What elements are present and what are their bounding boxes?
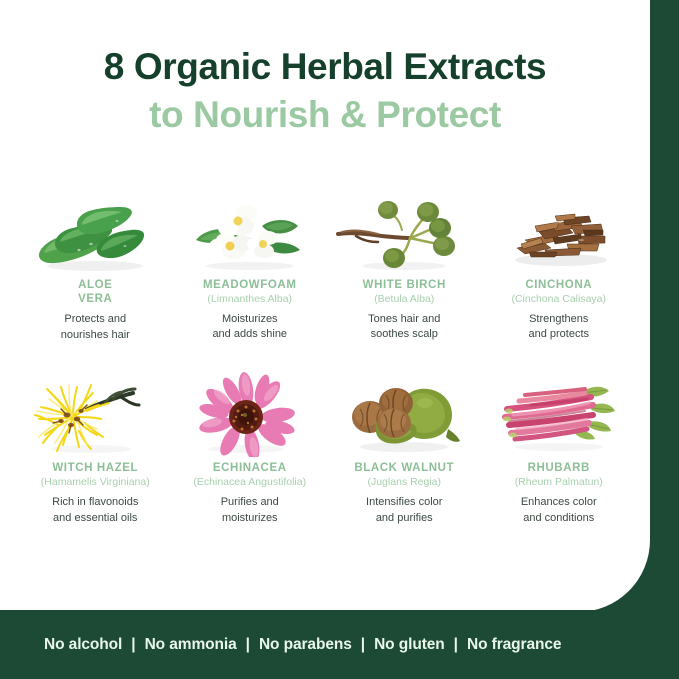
witch-hazel-yellow-flower-photo	[21, 371, 169, 457]
claim-no-fragrance: No fragrance	[467, 636, 561, 654]
extract-name: WHITE BIRCH	[363, 278, 446, 292]
extract-card-black-walnut: BLACK WALNUT (Juglans Regia) Intensifies…	[327, 371, 482, 526]
extract-description: Moisturizes and adds shine	[212, 312, 287, 343]
headline-line-2: to Nourish & Protect	[0, 92, 650, 137]
extracts-grid: ALOE VERA Protects and nourishes hair	[18, 188, 636, 526]
extract-card-cinchona: CINCHONA (Cinchona Calisaya) Strengthens…	[482, 188, 637, 343]
extract-description: Purifies and moisturizes	[221, 495, 279, 526]
claim-no-ammonia: No ammonia	[145, 636, 237, 654]
aloe-vera-leaves-photo	[21, 188, 169, 274]
meadowfoam-white-flowers-photo	[176, 188, 324, 274]
extract-name: RHUBARB	[528, 461, 590, 475]
headline-line-1: 8 Organic Herbal Extracts	[0, 44, 650, 89]
extract-card-aloe-vera: ALOE VERA Protects and nourishes hair	[18, 188, 173, 343]
extract-card-white-birch: WHITE BIRCH (Betula Alba) Tones hair and…	[327, 188, 482, 343]
extract-latin-name: (Betula Alba)	[374, 293, 434, 307]
claim-separator: |	[237, 636, 259, 654]
extract-description: Rich in flavonoids and essential oils	[52, 495, 138, 526]
content-card: 8 Organic Herbal Extracts to Nourish & P…	[0, 0, 650, 612]
extract-name: ALOE VERA	[78, 278, 112, 306]
extract-latin-name: (Cinchona Calisaya)	[511, 293, 606, 307]
black-walnut-nuts-husk-photo	[330, 371, 478, 457]
extract-latin-name: (Echinacea Angustifolia)	[193, 476, 306, 490]
extract-card-rhubarb: RHUBARB (Rheum Palmatun) Enhances color …	[482, 371, 637, 526]
extract-name: CINCHONA	[525, 278, 592, 292]
extract-latin-name: (Hamamelis Virginiana)	[41, 476, 150, 490]
rhubarb-pink-stalks-photo	[485, 371, 633, 457]
extract-card-meadowfoam: MEADOWFOAM (Limnanthes Alba) Moisturizes…	[173, 188, 328, 343]
page-title: 8 Organic Herbal Extracts to Nourish & P…	[0, 44, 650, 137]
claim-no-alcohol: No alcohol	[44, 636, 122, 654]
extract-card-witch-hazel: WITCH HAZEL (Hamamelis Virginiana) Rich …	[18, 371, 173, 526]
extract-name: BLACK WALNUT	[354, 461, 454, 475]
claim-no-gluten: No gluten	[374, 636, 445, 654]
claims-banner: No alcohol | No ammonia | No parabens | …	[0, 610, 679, 679]
claim-separator: |	[352, 636, 374, 654]
claims-list: No alcohol | No ammonia | No parabens | …	[44, 636, 561, 654]
claim-no-parabens: No parabens	[259, 636, 352, 654]
claim-separator: |	[445, 636, 467, 654]
claim-separator: |	[122, 636, 144, 654]
extract-latin-name: (Juglans Regia)	[367, 476, 441, 490]
extract-name: MEADOWFOAM	[203, 278, 297, 292]
extract-latin-name: (Limnanthes Alba)	[207, 293, 292, 307]
extract-description: Strengthens and protects	[528, 312, 589, 343]
poster-background: 8 Organic Herbal Extracts to Nourish & P…	[0, 0, 679, 679]
extract-latin-name: (Rheum Palmatun)	[515, 476, 603, 490]
extract-name: ECHINACEA	[213, 461, 287, 475]
extract-name: WITCH HAZEL	[52, 461, 138, 475]
extract-description: Enhances color and conditions	[521, 495, 597, 526]
cinchona-bark-chips-photo	[485, 188, 633, 274]
extract-card-echinacea: ECHINACEA (Echinacea Angustifolia) Purif…	[173, 371, 328, 526]
extract-description: Tones hair and soothes scalp	[368, 312, 440, 343]
extract-description: Protects and nourishes hair	[61, 312, 130, 343]
extract-description: Intensifies color and purifies	[366, 495, 442, 526]
white-birch-catkins-branch-photo	[330, 188, 478, 274]
echinacea-pink-coneflower-photo	[176, 371, 324, 457]
